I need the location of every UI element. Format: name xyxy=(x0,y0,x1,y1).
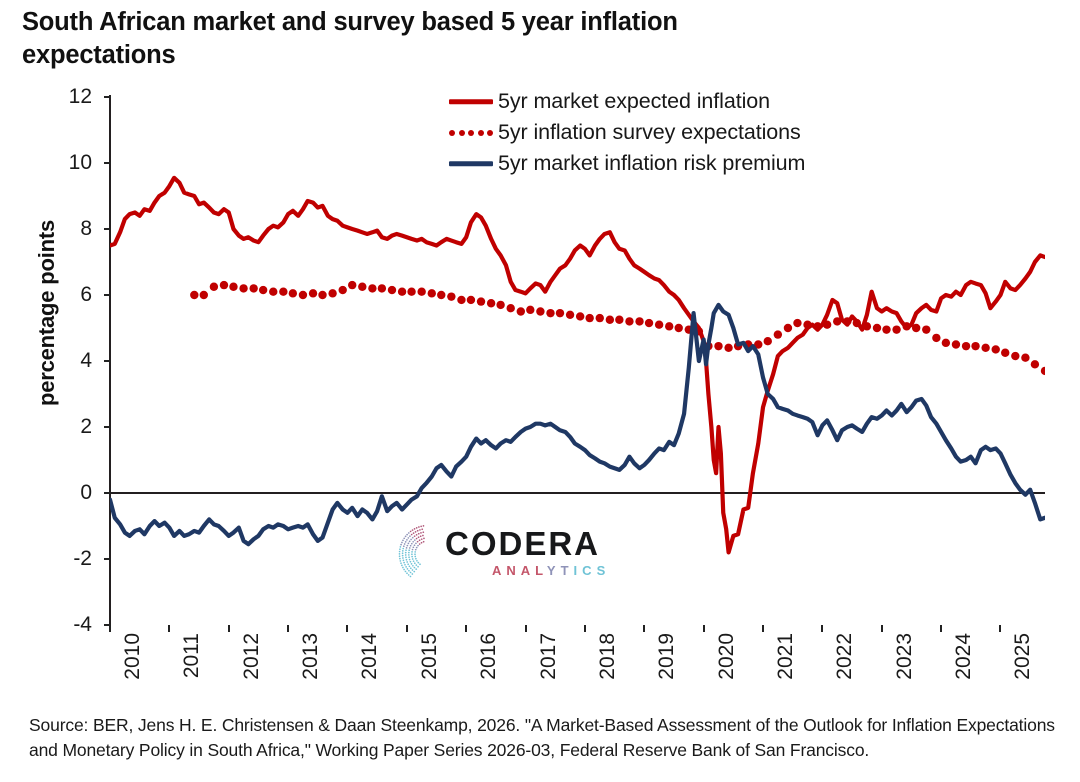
data-point xyxy=(675,324,683,332)
x-tick-label: 2015 xyxy=(418,633,442,713)
data-point xyxy=(606,316,614,324)
x-tick-mark xyxy=(762,625,764,632)
data-point xyxy=(358,283,366,291)
data-point xyxy=(477,297,485,305)
x-tick-label: 2022 xyxy=(833,633,857,713)
data-point xyxy=(1031,360,1039,368)
x-tick-mark xyxy=(168,625,170,632)
data-point xyxy=(200,291,208,299)
data-point xyxy=(517,307,525,315)
series-survey-expectations xyxy=(190,281,1045,375)
y-tick-label: 10 xyxy=(40,151,92,175)
data-point xyxy=(190,291,198,299)
logo-tagline-letter: C xyxy=(582,563,596,578)
data-point xyxy=(922,325,930,333)
data-point xyxy=(526,306,534,314)
data-point xyxy=(942,339,950,347)
logo-tagline-letter: I xyxy=(574,563,583,578)
data-point xyxy=(210,283,218,291)
x-tick-label: 2024 xyxy=(952,633,976,713)
chart-title: South African market and survey based 5 … xyxy=(22,6,782,71)
logo-tagline-letter: A xyxy=(521,563,535,578)
logo-tagline-letter: T xyxy=(561,563,574,578)
data-point xyxy=(398,288,406,296)
x-tick-label: 2017 xyxy=(537,633,561,713)
logo-tagline-letter: N xyxy=(506,563,520,578)
data-point xyxy=(853,319,861,327)
data-point xyxy=(328,289,336,297)
x-tick-label: 2011 xyxy=(180,633,204,713)
data-point xyxy=(339,286,347,294)
data-point xyxy=(417,288,425,296)
data-point xyxy=(823,321,831,329)
data-point xyxy=(1001,349,1009,357)
x-tick-label: 2014 xyxy=(358,633,382,713)
x-tick-mark xyxy=(346,625,348,632)
data-point xyxy=(259,286,267,294)
data-point xyxy=(566,311,574,319)
logo-tagline-letter: L xyxy=(535,563,547,578)
logo-tagline-letter: S xyxy=(597,563,611,578)
series-market-expected-inflation xyxy=(110,178,1045,553)
data-point xyxy=(467,296,475,304)
data-point xyxy=(576,312,584,320)
x-tick-mark xyxy=(643,625,645,632)
x-tick-label: 2016 xyxy=(477,633,501,713)
series-market-inflation-risk-premium xyxy=(110,305,1045,544)
data-point xyxy=(813,322,821,330)
codera-analytics-logo: CODERA ANALYTICS xyxy=(388,519,606,591)
data-point xyxy=(962,342,970,350)
x-tick-mark xyxy=(703,625,705,632)
x-tick-label: 2020 xyxy=(715,633,739,713)
x-tick-label: 2021 xyxy=(774,633,798,713)
data-point xyxy=(596,314,604,322)
x-tick-label: 2025 xyxy=(1011,633,1035,713)
data-point xyxy=(892,325,900,333)
data-point xyxy=(536,307,544,315)
data-point xyxy=(309,289,317,297)
data-point xyxy=(546,309,554,317)
data-point xyxy=(428,289,436,297)
y-tick-label: 12 xyxy=(40,85,92,109)
x-tick-mark xyxy=(881,625,883,632)
y-tick-label: -2 xyxy=(40,547,92,571)
data-point xyxy=(971,342,979,350)
data-point xyxy=(239,284,247,292)
y-tick-label: -4 xyxy=(40,613,92,637)
data-point xyxy=(912,324,920,332)
codera-c-arc-mark-icon xyxy=(388,519,444,589)
data-point xyxy=(992,345,1000,353)
x-tick-label: 2013 xyxy=(299,633,323,713)
data-point xyxy=(299,291,307,299)
data-point xyxy=(348,281,356,289)
data-point xyxy=(289,289,297,297)
data-point xyxy=(793,319,801,327)
data-point xyxy=(932,334,940,342)
data-point xyxy=(833,317,841,325)
data-point xyxy=(803,321,811,329)
x-tick-label: 2023 xyxy=(893,633,917,713)
data-point xyxy=(714,342,722,350)
data-point xyxy=(843,317,851,325)
data-point xyxy=(407,288,415,296)
data-point xyxy=(447,292,455,300)
data-point xyxy=(655,321,663,329)
x-tick-mark xyxy=(228,625,230,632)
x-tick-mark xyxy=(406,625,408,632)
data-point xyxy=(249,284,257,292)
data-point xyxy=(229,283,237,291)
data-point xyxy=(437,291,445,299)
data-point xyxy=(863,322,871,330)
logo-tagline-letter: A xyxy=(492,563,506,578)
logo-wordmark: CODERA xyxy=(445,525,600,563)
data-point xyxy=(724,344,732,352)
x-tick-label: 2018 xyxy=(596,633,620,713)
data-point xyxy=(665,322,673,330)
data-point xyxy=(279,288,287,296)
data-point xyxy=(487,299,495,307)
data-point xyxy=(774,330,782,338)
data-point xyxy=(388,286,396,294)
data-point xyxy=(952,340,960,348)
data-point xyxy=(645,319,653,327)
y-tick-label: 0 xyxy=(40,481,92,505)
x-tick-mark xyxy=(584,625,586,632)
source-note: Source: BER, Jens H. E. Christensen & Da… xyxy=(29,713,1059,763)
x-tick-label: 2019 xyxy=(655,633,679,713)
data-point xyxy=(368,284,376,292)
x-tick-mark xyxy=(287,625,289,632)
x-tick-mark xyxy=(821,625,823,632)
data-point xyxy=(902,322,910,330)
data-point xyxy=(625,317,633,325)
inflation-expectations-chart: South African market and survey based 5 … xyxy=(0,0,1080,782)
data-point xyxy=(784,324,792,332)
data-point xyxy=(585,314,593,322)
data-point xyxy=(873,324,881,332)
x-tick-label: 2010 xyxy=(121,633,145,713)
data-point xyxy=(1011,352,1019,360)
data-point xyxy=(457,296,465,304)
data-point xyxy=(378,284,386,292)
data-point xyxy=(269,288,277,296)
x-tick-mark xyxy=(465,625,467,632)
x-tick-mark xyxy=(999,625,1001,632)
data-point xyxy=(496,301,504,309)
data-point xyxy=(615,316,623,324)
data-point xyxy=(882,325,890,333)
data-point xyxy=(220,281,228,289)
x-tick-mark xyxy=(940,625,942,632)
data-point xyxy=(1021,354,1029,362)
x-tick-label: 2012 xyxy=(240,633,264,713)
x-tick-mark xyxy=(525,625,527,632)
data-point xyxy=(1041,367,1045,375)
data-point xyxy=(981,344,989,352)
y-axis-label: percentage points xyxy=(34,198,60,428)
data-point xyxy=(556,309,564,317)
data-point xyxy=(635,317,643,325)
logo-tagline-letter: Y xyxy=(547,563,561,578)
data-point xyxy=(507,304,515,312)
data-point xyxy=(764,337,772,345)
data-point xyxy=(318,291,326,299)
logo-tagline: ANALYTICS xyxy=(492,563,610,578)
